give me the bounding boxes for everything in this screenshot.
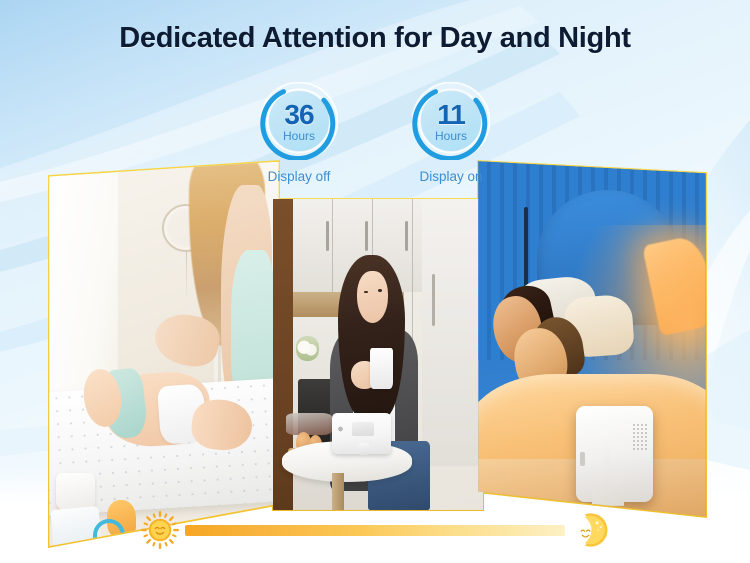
photo-kitchen: [273, 199, 483, 510]
sun-icon: [141, 511, 179, 549]
battery-ring-icon: 36 Hours: [260, 82, 338, 160]
battery-ring-inner: 36 Hours: [269, 91, 329, 151]
battery-ring-inner: 11 Hours: [421, 91, 481, 151]
battery-ring-icon: 11 Hours: [412, 82, 490, 160]
baby-monitor-device-back: [576, 406, 653, 502]
day-night-gradient-track[interactable]: [185, 525, 565, 536]
battery-hours-unit: Hours: [435, 130, 467, 142]
panel-day-nursery: [49, 162, 278, 547]
battery-badge-display-on: 11 Hours Display on: [403, 82, 499, 184]
photo-bedroom: [478, 161, 705, 516]
battery-badge-display-off: 36 Hours Display off: [251, 82, 347, 184]
panel-night-bedroom: [478, 161, 705, 516]
photo-nursery: [49, 162, 278, 547]
baby-monitor-device: [332, 413, 391, 453]
battery-badge-group: 36 Hours Display off 11 Hours Display: [0, 82, 750, 184]
battery-badge-caption: Display on: [419, 169, 482, 184]
battery-hours-unit: Hours: [283, 130, 315, 142]
battery-badge-caption: Display off: [268, 169, 331, 184]
page-title: Dedicated Attention for Day and Night: [0, 22, 750, 55]
moon-icon: [571, 511, 609, 549]
day-night-slider: [0, 511, 750, 549]
panel-day-kitchen: [273, 199, 483, 510]
battery-hours-value: 11: [437, 101, 465, 129]
product-banner: Dedicated Attention for Day and Night 36…: [0, 0, 750, 563]
battery-hours-value: 36: [284, 101, 313, 129]
